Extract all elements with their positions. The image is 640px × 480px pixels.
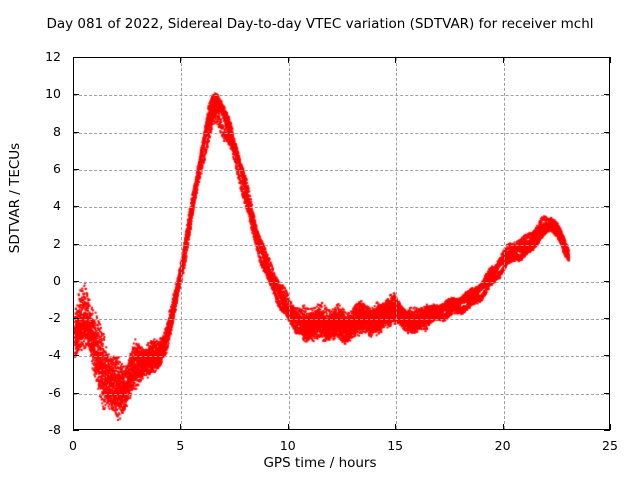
- y-axis-tick: [604, 393, 610, 394]
- gridline-vertical: [396, 58, 397, 429]
- y-axis-tick: [73, 94, 79, 95]
- y-axis-tick: [73, 393, 79, 394]
- plot-frame: [73, 57, 610, 430]
- y-axis-tick-label: 12: [0, 49, 61, 64]
- y-axis-tick: [604, 169, 610, 170]
- y-axis-tick: [604, 94, 610, 95]
- x-axis-tick: [288, 424, 289, 430]
- gridline-vertical: [504, 58, 505, 429]
- y-axis-tick: [604, 132, 610, 133]
- x-axis-title: GPS time / hours: [0, 455, 640, 471]
- y-axis-tick: [73, 430, 79, 431]
- x-axis-tick: [503, 424, 504, 430]
- y-axis-tick: [604, 355, 610, 356]
- gridline-horizontal: [74, 170, 609, 171]
- gridline-horizontal: [74, 319, 609, 320]
- gridline-horizontal: [74, 133, 609, 134]
- x-axis-tick-label: 5: [140, 438, 220, 453]
- x-axis-tick-label: 20: [463, 438, 543, 453]
- y-axis-tick-label: -6: [0, 385, 61, 400]
- x-axis-tick-label: 10: [248, 438, 328, 453]
- gridline-horizontal: [74, 282, 609, 283]
- gridline-horizontal: [74, 207, 609, 208]
- y-axis-tick: [73, 132, 79, 133]
- y-axis-tick: [73, 318, 79, 319]
- x-axis-tick-label: 25: [570, 438, 640, 453]
- y-axis-tick-label: -2: [0, 310, 61, 325]
- y-axis-tick: [73, 206, 79, 207]
- y-axis-title: SDTVAR / TECUs: [7, 98, 23, 298]
- y-axis-tick: [73, 281, 79, 282]
- x-axis-tick: [180, 57, 181, 63]
- y-axis-tick: [604, 244, 610, 245]
- gridline-horizontal: [74, 95, 609, 96]
- gridline-horizontal: [74, 245, 609, 246]
- y-axis-tick: [73, 244, 79, 245]
- x-axis-tick: [395, 57, 396, 63]
- y-axis-tick: [604, 318, 610, 319]
- chart-title: Day 081 of 2022, Sidereal Day-to-day VTE…: [0, 16, 640, 32]
- plot-root: Day 081 of 2022, Sidereal Day-to-day VTE…: [0, 0, 640, 480]
- y-axis-tick-label: -4: [0, 347, 61, 362]
- y-axis-tick: [604, 281, 610, 282]
- x-axis-tick-label: 0: [33, 438, 113, 453]
- x-axis-tick: [395, 424, 396, 430]
- y-axis-tick-label: -8: [0, 422, 61, 437]
- x-axis-tick-label: 15: [355, 438, 435, 453]
- gridline-horizontal: [74, 394, 609, 395]
- x-axis-tick: [288, 57, 289, 63]
- gridline-vertical: [289, 58, 290, 429]
- y-axis-tick: [73, 355, 79, 356]
- x-axis-tick: [610, 424, 611, 430]
- x-axis-tick: [610, 57, 611, 63]
- gridline-vertical: [181, 58, 182, 429]
- x-axis-tick: [180, 424, 181, 430]
- x-axis-tick: [73, 424, 74, 430]
- gridline-horizontal: [74, 356, 609, 357]
- y-axis-tick: [604, 430, 610, 431]
- y-axis-tick: [73, 169, 79, 170]
- y-axis-tick: [604, 206, 610, 207]
- x-axis-tick: [503, 57, 504, 63]
- x-axis-tick: [73, 57, 74, 63]
